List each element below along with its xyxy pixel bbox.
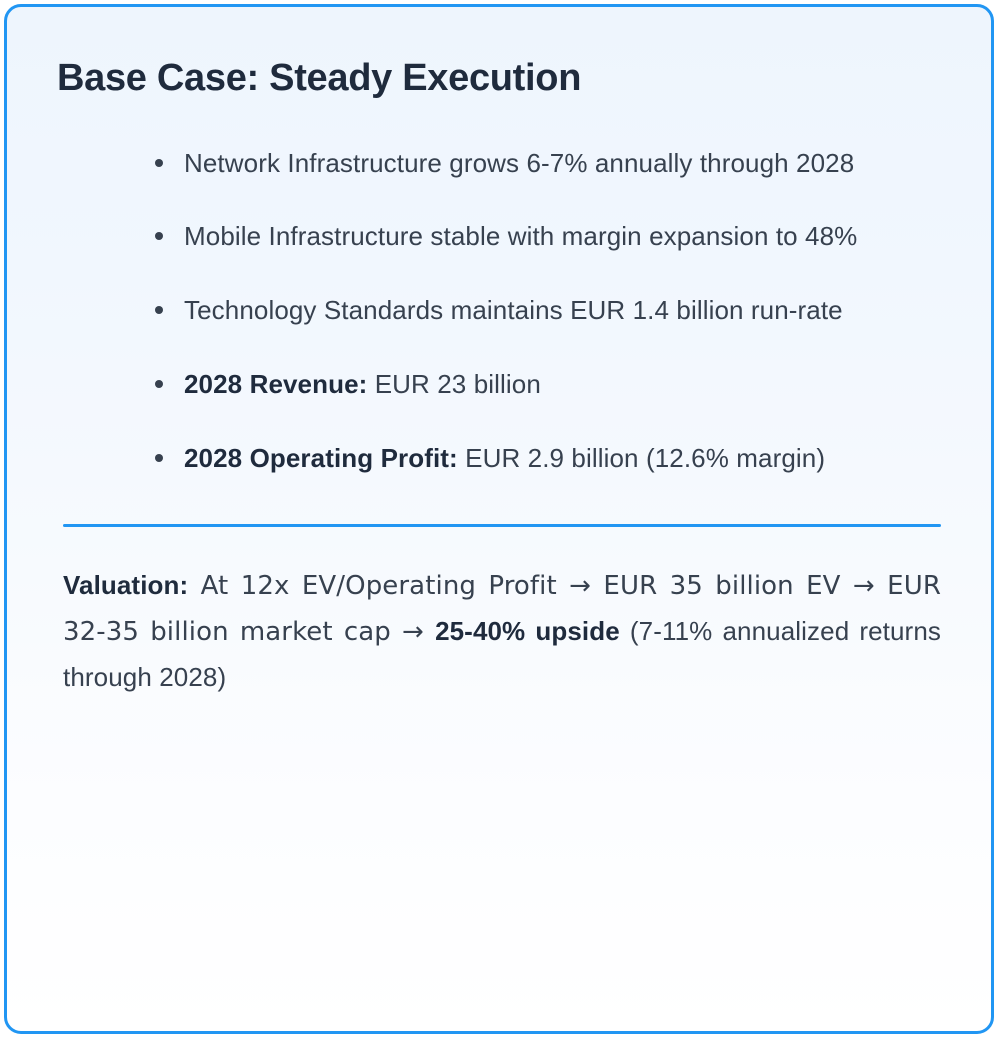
assumptions-list: Network Infrastructure grows 6-7% annual… xyxy=(57,101,947,481)
bullet-text: Technology Standards maintains EUR 1.4 b… xyxy=(184,295,843,325)
base-case-scenario-card: Base Case: Steady Execution Network Infr… xyxy=(4,4,994,1034)
bullet-bold-prefix: 2028 Operating Profit: xyxy=(184,443,458,473)
bullet-bold-prefix: 2028 Revenue: xyxy=(184,369,367,399)
card-content: Base Case: Steady Execution Network Infr… xyxy=(7,7,991,699)
bullet-text: Mobile Infrastructure stable with margin… xyxy=(184,221,857,251)
bullet-text: EUR 23 billion xyxy=(367,369,540,399)
list-item: Technology Standards maintains EUR 1.4 b… xyxy=(57,288,947,333)
list-item: Network Infrastructure grows 6-7% annual… xyxy=(57,141,947,186)
valuation-label: Valuation: xyxy=(63,570,188,600)
list-item: 2028 Revenue: EUR 23 billion xyxy=(57,362,947,407)
list-item: 2028 Operating Profit: EUR 2.9 billion (… xyxy=(57,436,947,481)
bullet-text: EUR 2.9 billion (12.6% margin) xyxy=(458,443,825,473)
bullet-text: Network Infrastructure grows 6-7% annual… xyxy=(184,148,854,178)
card-title: Base Case: Steady Execution xyxy=(57,57,947,101)
list-item: Mobile Infrastructure stable with margin… xyxy=(57,214,947,259)
valuation-paragraph: Valuation: At 12x EV/Operating Profit → … xyxy=(57,527,947,699)
valuation-upside-highlight: 25-40% upside xyxy=(435,616,620,646)
